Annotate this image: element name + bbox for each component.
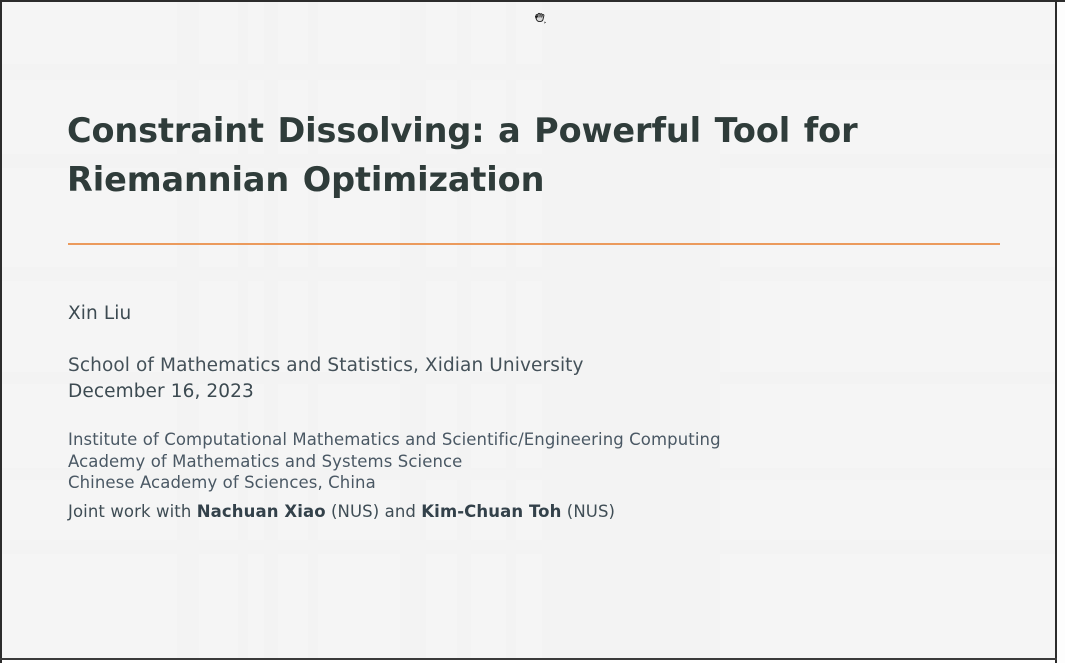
background-artifact xyxy=(2,267,1055,281)
viewer-frame-bottom xyxy=(0,658,1057,660)
institute-line: Academy of Mathematics and Systems Scien… xyxy=(68,451,968,473)
joint-work-line: Joint work with Nachuan Xiao (NUS) and K… xyxy=(68,501,615,523)
presentation-slide[interactable]: Constraint Dissolving: a Powerful Tool f… xyxy=(2,2,1055,658)
institute-line: Chinese Academy of Sciences, China xyxy=(68,472,968,494)
author-block: Xin Liu School of Mathematics and Statis… xyxy=(68,301,968,494)
institute-block: Institute of Computational Mathematics a… xyxy=(68,429,968,494)
joint-work-conjunction: and xyxy=(385,502,422,521)
collaborator-affiliation-2: (NUS) xyxy=(561,502,615,521)
viewer-scrollbar-gutter[interactable] xyxy=(1057,2,1065,663)
viewer-frame-left xyxy=(0,0,2,663)
collaborator-name-2: Kim-Chuan Toh xyxy=(421,502,561,521)
collaborator-name-1: Nachuan Xiao xyxy=(197,502,326,521)
joint-work-prefix: Joint work with xyxy=(68,502,197,521)
pdf-viewer[interactable]: Constraint Dissolving: a Powerful Tool f… xyxy=(0,0,1065,663)
author-affiliation: School of Mathematics and Statistics, Xi… xyxy=(68,353,968,379)
institute-line: Institute of Computational Mathematics a… xyxy=(68,429,968,451)
author-name: Xin Liu xyxy=(68,301,968,327)
background-artifact xyxy=(2,540,1055,554)
background-artifact xyxy=(2,64,1055,80)
collaborator-affiliation-1: (NUS) xyxy=(326,502,385,521)
viewer-frame-top xyxy=(0,0,1065,2)
page-title: Constraint Dissolving: a Powerful Tool f… xyxy=(67,106,967,204)
presentation-date: December 16, 2023 xyxy=(68,379,968,405)
title-block: Constraint Dissolving: a Powerful Tool f… xyxy=(67,106,967,204)
title-separator-rule xyxy=(68,243,1000,245)
